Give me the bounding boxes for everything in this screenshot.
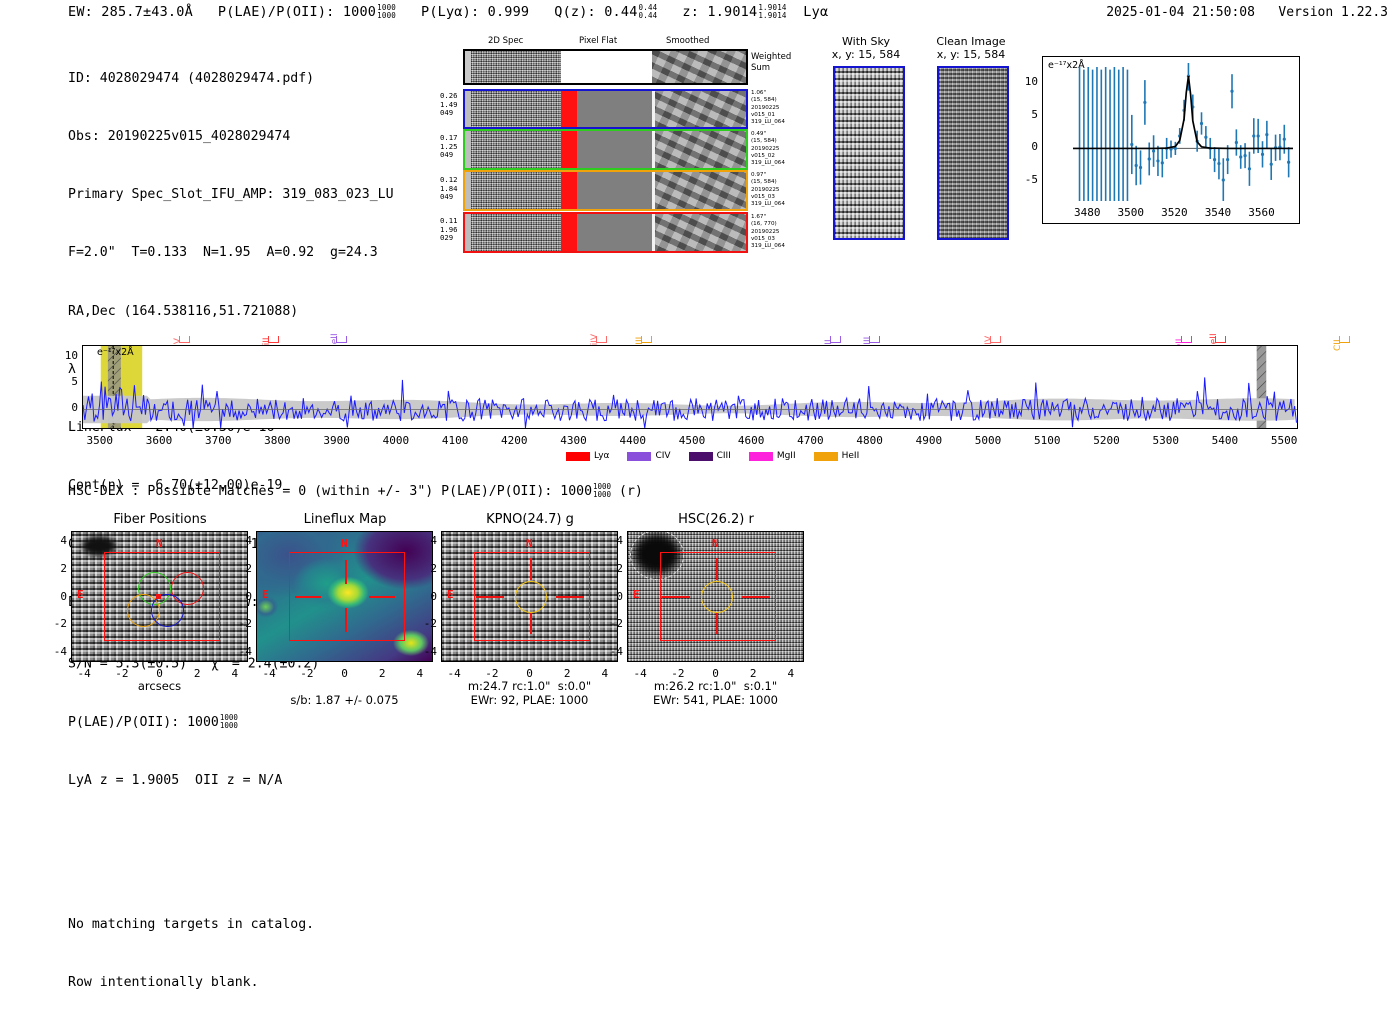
axis-tick: 2 <box>47 562 67 575</box>
spectrum-units-annotation: e⁻¹⁷x2Å <box>97 347 134 358</box>
axis-tick: -4 <box>417 645 437 658</box>
hscdex-summary: HSC-DEX : Possible Matches = 0 (within +… <box>68 483 643 499</box>
compass-e-4: E <box>633 588 640 601</box>
legend-label: CIV <box>655 451 670 461</box>
fiber-strip-3 <box>463 170 748 211</box>
compass-e-3: E <box>447 588 454 601</box>
emission-line-bracket <box>990 336 1001 343</box>
info-plae-bounds: 10001000 <box>220 714 238 730</box>
cutout-xlabel-arcsecs: arcsecs <box>71 679 248 693</box>
fiber-meta-4: 1.67" (16, 770) 20190225 v015_03 319_LU_… <box>751 214 785 250</box>
footer-line-1: No matching targets in catalog. <box>68 915 314 934</box>
info-line-primary: Primary Spec_Slot_IFU_AMP: 319_083_023_L… <box>68 185 409 204</box>
axis-tick: 4000 <box>370 434 422 447</box>
axis-tick: 4400 <box>607 434 659 447</box>
compass-n-2: N <box>341 537 348 550</box>
legend-item: CIII <box>689 451 731 461</box>
fiber-values-4: 0.11 1.96 029 <box>440 217 458 243</box>
axis-tick: 3900 <box>311 434 363 447</box>
emission-line-bracket <box>869 336 880 343</box>
emission-line-bracket <box>336 336 347 343</box>
axis-tick: 2 <box>366 667 398 680</box>
axis-tick: 4200 <box>488 434 540 447</box>
inset-plot-svg <box>1043 57 1299 223</box>
compass-n-1: N <box>156 537 163 550</box>
fiber-values-1: 0.26 1.49 049 <box>440 92 458 118</box>
spectrum-svg <box>83 346 1297 428</box>
compass-e-2: E <box>262 588 269 601</box>
fiber-meta-1: 1.06" (15, 584) 20190225 v015_01 319_LU_… <box>751 90 785 126</box>
axis-tick: 5200 <box>1080 434 1132 447</box>
axis-tick: 4 <box>232 534 252 547</box>
info-line-redshifts: LyA z = 1.9005 OII z = N/A <box>68 771 409 790</box>
axis-tick: 2 <box>417 562 437 575</box>
aperture-circle-hsc <box>701 581 733 613</box>
legend-item: Lyα <box>566 451 609 461</box>
axis-tick: 4900 <box>903 434 955 447</box>
footer-line-2: Row intentionally blank. <box>68 973 314 992</box>
emission-line-bracket <box>641 336 652 343</box>
header-plae-bounds: 10001000 <box>377 4 396 20</box>
axis-tick: 4700 <box>784 434 836 447</box>
fiber-strip-1 <box>463 89 748 129</box>
cleanimage-title: Clean Image <box>921 35 1021 48</box>
legend-item: CIV <box>627 451 670 461</box>
header-ew: EW: 285.7±43.0Å <box>68 4 193 20</box>
axis-tick: 3500 <box>1109 206 1153 219</box>
header-z-type: Lyα <box>803 4 828 20</box>
axis-tick: -4 <box>232 645 252 658</box>
axis-tick: 5100 <box>1021 434 1073 447</box>
axis-tick: -2 <box>291 667 323 680</box>
axis-tick: -2 <box>232 617 252 630</box>
withsky-caption: With Sky x, y: 15, 584 <box>821 35 911 61</box>
footer-note: No matching targets in catalog. Row inte… <box>68 876 314 1012</box>
compass-n-3: N <box>526 537 533 550</box>
axis-tick: 5000 <box>962 434 1014 447</box>
axis-tick: 10 <box>1018 75 1038 88</box>
legend-label: CIII <box>717 451 731 461</box>
info-line-radec: RA,Dec (164.538116,51.721088) <box>68 302 409 321</box>
hscdex-bounds: 10001000 <box>593 483 611 499</box>
version-label: Version 1.22.3 <box>1278 5 1388 20</box>
axis-tick: 0 <box>329 667 361 680</box>
emission-line-bracket <box>1339 336 1350 343</box>
axis-tick: 0 <box>417 590 437 603</box>
axis-tick: 5 <box>1018 108 1038 121</box>
cutout-title-lineflux-map: Lineflux Map <box>245 512 445 527</box>
info-line-params: F=2.0" T=0.133 N=1.95 A=0.92 g=24.3 <box>68 243 409 262</box>
spectrum-legend: LyαCIVCIIIMgIIHeII <box>566 451 859 461</box>
axis-tick: 4300 <box>548 434 600 447</box>
legend-swatch <box>689 452 713 461</box>
cleanimage-coords: x, y: 15, 584 <box>921 48 1021 61</box>
header-summary-line: EW: 285.7±43.0Å P(LAE)/P(OII): 100010001… <box>68 4 828 20</box>
emission-line-bracket <box>830 336 841 343</box>
axis-tick: 2 <box>603 562 623 575</box>
axis-tick: 4 <box>603 534 623 547</box>
legend-label: MgII <box>777 451 796 461</box>
axis-tick: 4100 <box>429 434 481 447</box>
info-line-plae: P(LAE)/P(OII): 100010001000 <box>68 713 409 732</box>
legend-swatch <box>814 452 838 461</box>
axis-tick: 4500 <box>666 434 718 447</box>
axis-tick: 4 <box>47 534 67 547</box>
info-line-obs: Obs: 20190225v015_4028029474 <box>68 127 409 146</box>
axis-tick: 5 <box>56 375 78 388</box>
fiber-values-3: 0.12 1.84 049 <box>440 176 458 202</box>
legend-swatch <box>749 452 773 461</box>
axis-tick: -2 <box>47 617 67 630</box>
weighted-sum-label: Weighted Sum <box>751 52 791 74</box>
axis-tick: 5500 <box>1258 434 1310 447</box>
axis-tick: 3520 <box>1152 206 1196 219</box>
header-plae-value: 1000 <box>343 4 376 20</box>
withsky-title: With Sky <box>821 35 911 48</box>
axis-tick: -4 <box>47 645 67 658</box>
compass-n-4: N <box>712 537 719 550</box>
axis-tick: 3500 <box>74 434 126 447</box>
axis-tick: 0 <box>603 590 623 603</box>
withsky-coords: x, y: 15, 584 <box>821 48 911 61</box>
full-spectrum-plot: e⁻¹⁷x2Å <box>82 345 1298 429</box>
col-header-pixelflat: Pixel Flat <box>579 36 617 46</box>
axis-tick: 4 <box>417 534 437 547</box>
withsky-image <box>833 66 905 240</box>
compass-e-1: E <box>77 588 84 601</box>
axis-tick: 3480 <box>1065 206 1109 219</box>
axis-tick: 4600 <box>725 434 777 447</box>
axis-tick: -4 <box>603 645 623 658</box>
cutout-image-lineflux-map: N E <box>256 531 433 662</box>
fiber-meta-3: 0.97" (15, 584) 20190225 v015_03 319_LU_… <box>751 172 785 208</box>
header-plae-label: P(LAE)/P(OII): <box>218 4 335 20</box>
cutout-image-fiber-positions: N E <box>71 531 248 662</box>
axis-tick: -5 <box>1018 173 1038 186</box>
header-qz: Q(z): 0.44 <box>554 4 637 20</box>
cutout-caption-hsc: m:26.2 rc:1.0" s:0.1" EWr: 541, PLAE: 10… <box>617 679 814 707</box>
cleanimage-caption: Clean Image x, y: 15, 584 <box>921 35 1021 61</box>
axis-tick: 3540 <box>1196 206 1240 219</box>
axis-tick: -2 <box>603 617 623 630</box>
legend-item: MgII <box>749 451 796 461</box>
emission-line-bracket <box>268 336 279 343</box>
axis-tick: 2 <box>232 562 252 575</box>
cutout-caption-lineflux: s/b: 1.87 +/- 0.075 <box>246 693 443 707</box>
axis-tick: 0 <box>56 401 78 414</box>
legend-label: HeII <box>842 451 860 461</box>
emission-line-bracket <box>1215 336 1226 343</box>
axis-tick: 10 <box>56 349 78 362</box>
line-fit-plot: e⁻¹⁷x2Å <box>1042 56 1300 224</box>
axis-tick: 3700 <box>192 434 244 447</box>
hscdex-text: HSC-DEX : Possible Matches = 0 (within +… <box>68 484 592 499</box>
legend-item: HeII <box>814 451 860 461</box>
axis-tick: -4 <box>253 667 285 680</box>
fiber-meta-2: 0.49" (15, 584) 20190225 v015_02 319_LU_… <box>751 131 785 167</box>
header-z-bounds: 1.90141.9014 <box>758 4 786 20</box>
axis-tick: 0 <box>232 590 252 603</box>
cutout-image-hsc-r: N E <box>627 531 804 662</box>
col-header-smoothed: Smoothed <box>666 36 709 46</box>
cutout-title-hsc-r: HSC(26.2) r <box>616 512 816 527</box>
cleanimage-image <box>937 66 1009 240</box>
fiber-values-2: 0.17 1.25 049 <box>440 134 458 160</box>
emission-line-bracket <box>596 336 607 343</box>
axis-tick: 5300 <box>1140 434 1192 447</box>
info-line-id: ID: 4028029474 (4028029474.pdf) <box>68 69 409 88</box>
timestamp: 2025-01-04 21:50:08 <box>1106 5 1255 20</box>
header-qz-bounds: 0.440.44 <box>639 4 658 20</box>
legend-swatch <box>566 452 590 461</box>
axis-tick: 0 <box>47 590 67 603</box>
fiber-strip-2 <box>463 129 748 170</box>
cutout-caption-kpno: m:24.7 rc:1.0" s:0.0" EWr: 92, PLAE: 100… <box>431 679 628 707</box>
legend-label: Lyα <box>594 451 609 461</box>
header-z: z: 1.9014 <box>682 4 757 20</box>
axis-tick: 3800 <box>251 434 303 447</box>
legend-swatch <box>627 452 651 461</box>
col-header-2dspec: 2D Spec <box>488 36 523 46</box>
emission-line-bracket <box>1181 336 1192 343</box>
axis-tick: 4800 <box>844 434 896 447</box>
axis-tick: 0 <box>1018 140 1038 153</box>
cutout-image-kpno-g: N E <box>441 531 618 662</box>
hscdex-filter: (r) <box>619 484 643 499</box>
axis-tick: 5400 <box>1199 434 1251 447</box>
aperture-circle-kpno <box>515 581 547 613</box>
weighted-sum-strip <box>463 49 748 85</box>
axis-tick: 3600 <box>133 434 185 447</box>
fiber-strip-4 <box>463 212 748 253</box>
emission-line-bracket <box>179 336 190 343</box>
cutout-title-kpno-g: KPNO(24.7) g <box>430 512 630 527</box>
cutout-title-fiber-positions: Fiber Positions <box>60 512 260 527</box>
axis-tick: 3560 <box>1240 206 1284 219</box>
timestamp-version: 2025-01-04 21:50:08 Version 1.22.3 <box>1106 5 1388 20</box>
axis-tick: -2 <box>417 617 437 630</box>
header-plya: P(Lyα): 0.999 <box>421 4 529 20</box>
